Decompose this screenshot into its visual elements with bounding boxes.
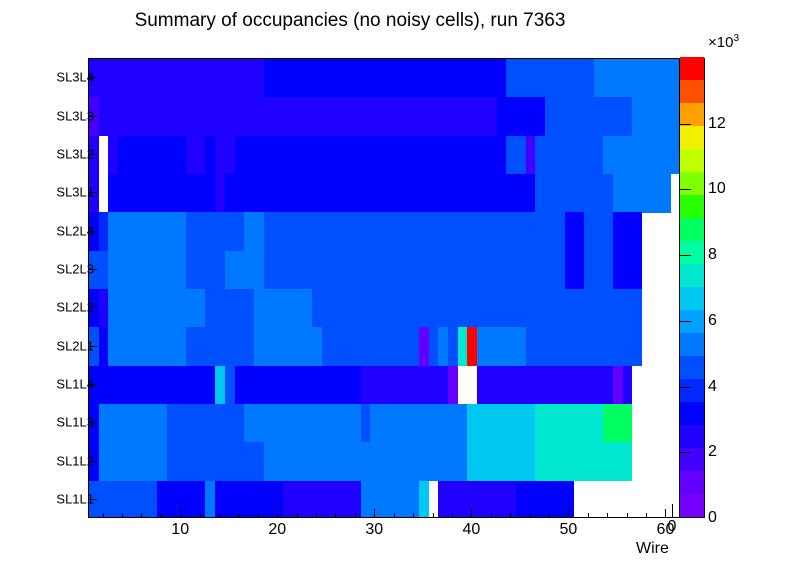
x-axis-minor-tick bbox=[355, 513, 356, 518]
colorbar-tick-label: 4 bbox=[708, 378, 717, 396]
heatmap-cell bbox=[235, 366, 361, 405]
x-axis-minor-tick bbox=[413, 513, 414, 518]
heatmap-cell bbox=[89, 366, 215, 405]
colorbar-tick bbox=[679, 321, 691, 322]
heatmap-cell bbox=[535, 442, 632, 481]
x-axis-minor-tick bbox=[297, 513, 298, 518]
colorbar-band bbox=[680, 379, 704, 402]
x-axis-minor-tick bbox=[103, 513, 104, 518]
heatmap-cell bbox=[118, 136, 186, 175]
heatmap-cell bbox=[254, 327, 322, 366]
heatmap-cell bbox=[264, 212, 565, 251]
x-axis-minor-tick bbox=[394, 513, 395, 518]
heatmap-cell bbox=[89, 481, 157, 517]
heatmap-cell bbox=[89, 97, 99, 136]
heatmap-cell bbox=[467, 327, 477, 366]
heatmap-cell bbox=[205, 481, 215, 517]
heatmap-cell bbox=[89, 136, 99, 175]
heatmap-cell bbox=[506, 136, 525, 175]
heatmap-cell bbox=[89, 442, 99, 481]
x-axis-tick-label: 50 bbox=[559, 521, 577, 539]
heatmap-cell bbox=[225, 251, 264, 290]
heatmap-cell bbox=[89, 174, 99, 213]
x-axis-minor-tick bbox=[238, 513, 239, 518]
colorbar-band bbox=[680, 218, 704, 241]
heatmap-cell bbox=[438, 327, 448, 366]
heatmap-cell bbox=[322, 327, 419, 366]
heatmap-cell bbox=[215, 136, 234, 175]
colorbar-band bbox=[680, 57, 704, 80]
colorbar bbox=[679, 58, 705, 518]
x-axis-minor-tick bbox=[549, 513, 550, 518]
x-axis-minor-tick bbox=[200, 513, 201, 518]
colorbar-band bbox=[680, 103, 704, 126]
root-canvas: Summary of occupancies (no noisy cells),… bbox=[0, 0, 796, 572]
heatmap-cell bbox=[264, 59, 507, 98]
colorbar-tick-label: 2 bbox=[708, 443, 717, 461]
x-axis-minor-tick bbox=[219, 513, 220, 518]
colorbar-tick bbox=[679, 452, 691, 453]
x-axis-minor-tick bbox=[141, 513, 142, 518]
colorbar-tick bbox=[679, 387, 691, 388]
heatmap-cell bbox=[254, 289, 312, 328]
heatmap-cell bbox=[283, 481, 361, 517]
heatmap-cell bbox=[215, 481, 283, 517]
heatmap-cell bbox=[419, 327, 429, 366]
colorbar-multiplier-base: ×10 bbox=[708, 34, 733, 51]
heatmap-cell bbox=[225, 174, 536, 213]
x-axis-major-tick bbox=[180, 509, 181, 518]
colorbar-axis-stub bbox=[672, 504, 673, 518]
heatmap-cell bbox=[516, 481, 574, 517]
heatmap-cell bbox=[361, 366, 448, 405]
x-axis-minor-tick bbox=[491, 513, 492, 518]
colorbar-tick-label: 6 bbox=[708, 312, 717, 330]
heatmap-cell bbox=[99, 289, 109, 328]
x-axis-minor-tick bbox=[530, 513, 531, 518]
heatmap-cell bbox=[99, 212, 109, 251]
heatmap-cell bbox=[419, 481, 429, 517]
colorbar-tick-label: 0 bbox=[708, 509, 717, 527]
colorbar-band bbox=[680, 264, 704, 287]
heatmap-cell bbox=[584, 212, 613, 251]
x-axis-minor-tick bbox=[433, 513, 434, 518]
heatmap-cell bbox=[89, 404, 99, 443]
heatmap-cell bbox=[565, 251, 584, 290]
heatmap-cell bbox=[108, 59, 263, 98]
heatmap-cell bbox=[108, 289, 205, 328]
colorbar-tick-label: 8 bbox=[708, 246, 717, 264]
x-axis-minor-tick bbox=[452, 513, 453, 518]
heatmap-cell bbox=[89, 59, 99, 98]
heatmap-cell bbox=[361, 404, 371, 443]
x-axis-minor-tick bbox=[607, 513, 608, 518]
x-axis-major-tick bbox=[568, 509, 569, 518]
x-axis-major-tick bbox=[471, 509, 472, 518]
heatmap-cell bbox=[108, 327, 186, 366]
heatmap-cell bbox=[99, 442, 167, 481]
page-title: Summary of occupancies (no noisy cells),… bbox=[0, 10, 700, 32]
heatmap-cell bbox=[167, 404, 245, 443]
colorbar-multiplier: ×103 bbox=[708, 33, 739, 51]
heatmap-cell bbox=[603, 404, 632, 443]
heatmap-cell bbox=[186, 251, 225, 290]
x-axis-minor-tick bbox=[316, 513, 317, 518]
heatmap-cell bbox=[458, 327, 468, 366]
heatmap-cell bbox=[244, 404, 360, 443]
heatmap-cell bbox=[312, 289, 642, 328]
colorbar-tick bbox=[679, 255, 691, 256]
heatmap-cell bbox=[497, 97, 546, 136]
heatmap-cell bbox=[613, 251, 642, 290]
heatmap-cell bbox=[448, 366, 458, 405]
heatmap-cell bbox=[448, 327, 458, 366]
heatmap-cell bbox=[477, 366, 613, 405]
heatmap-cell bbox=[361, 481, 419, 517]
heatmap-cell bbox=[467, 442, 535, 481]
heatmap-cell bbox=[99, 327, 109, 366]
heatmap-cell bbox=[215, 174, 225, 213]
colorbar-zero-label: 0 bbox=[668, 518, 677, 536]
heatmap-cell bbox=[225, 366, 235, 405]
colorbar-band bbox=[680, 172, 704, 195]
x-axis-tick-label: 30 bbox=[365, 521, 383, 539]
heatmap-cells bbox=[89, 59, 679, 517]
x-axis-minor-tick bbox=[510, 513, 511, 518]
heatmap-cell bbox=[215, 366, 225, 405]
heatmap-cell bbox=[186, 136, 205, 175]
heatmap-cell bbox=[89, 251, 108, 290]
heatmap-cell bbox=[205, 136, 215, 175]
x-axis-minor-tick bbox=[627, 513, 628, 518]
x-axis-minor-tick bbox=[161, 513, 162, 518]
x-axis-major-tick bbox=[277, 509, 278, 518]
colorbar-band bbox=[680, 448, 704, 471]
heatmap-cell bbox=[526, 327, 642, 366]
colorbar-multiplier-exponent: 3 bbox=[733, 33, 739, 44]
heatmap-cell bbox=[205, 289, 254, 328]
heatmap-cell bbox=[167, 442, 264, 481]
colorbar-band bbox=[680, 356, 704, 379]
heatmap-cell bbox=[370, 404, 467, 443]
heatmap-cell bbox=[613, 366, 623, 405]
heatmap-cell bbox=[535, 136, 603, 175]
x-axis-minor-tick bbox=[122, 513, 123, 518]
colorbar-band bbox=[680, 402, 704, 425]
heatmap-cell bbox=[108, 174, 215, 213]
heatmap-cell bbox=[186, 212, 244, 251]
heatmap-cell bbox=[584, 251, 613, 290]
colorbar-band bbox=[680, 494, 704, 517]
heatmap-cell bbox=[535, 174, 613, 213]
x-axis-tick-label: 40 bbox=[462, 521, 480, 539]
x-axis-major-tick bbox=[374, 509, 375, 518]
x-axis-minor-tick bbox=[258, 513, 259, 518]
colorbar-tick bbox=[679, 124, 691, 125]
heatmap-cell bbox=[477, 327, 526, 366]
plot-frame bbox=[88, 58, 680, 518]
heatmap-cell bbox=[467, 404, 535, 443]
x-axis-minor-tick bbox=[646, 513, 647, 518]
heatmap-cell bbox=[264, 442, 468, 481]
colorbar-band bbox=[680, 241, 704, 264]
heatmap-cell bbox=[108, 212, 186, 251]
colorbar-tick-label: 12 bbox=[708, 115, 726, 133]
heatmap-cell bbox=[603, 136, 679, 175]
heatmap-cell bbox=[613, 174, 671, 213]
x-axis-tick-label: 20 bbox=[268, 521, 286, 539]
colorbar-tick bbox=[679, 517, 691, 518]
heatmap-cell bbox=[506, 59, 593, 98]
colorbar-band bbox=[680, 333, 704, 356]
heatmap-cell bbox=[186, 327, 254, 366]
x-axis-major-tick bbox=[665, 509, 666, 518]
heatmap-cell bbox=[264, 251, 565, 290]
colorbar-band bbox=[680, 126, 704, 149]
heatmap-cell bbox=[89, 212, 99, 251]
heatmap-cell bbox=[108, 136, 118, 175]
heatmap-cell bbox=[99, 59, 109, 98]
x-axis-title: Wire bbox=[636, 540, 669, 558]
heatmap-cell bbox=[89, 289, 99, 328]
heatmap-cell bbox=[99, 404, 167, 443]
heatmap-cell bbox=[623, 366, 633, 405]
colorbar-band bbox=[680, 287, 704, 310]
x-axis-minor-tick bbox=[588, 513, 589, 518]
heatmap-cell bbox=[545, 97, 632, 136]
colorbar-band bbox=[680, 425, 704, 448]
colorbar-band bbox=[680, 195, 704, 218]
colorbar-tick bbox=[679, 189, 691, 190]
x-axis-tick-label: 10 bbox=[171, 521, 189, 539]
heatmap-cell bbox=[535, 404, 603, 443]
heatmap-cell bbox=[99, 97, 497, 136]
colorbar-band bbox=[680, 80, 704, 103]
heatmap-cell bbox=[429, 327, 439, 366]
heatmap-cell bbox=[438, 481, 516, 517]
heatmap-cell bbox=[565, 212, 584, 251]
heatmap-cell bbox=[613, 212, 642, 251]
heatmap-cell bbox=[526, 136, 536, 175]
x-axis-minor-tick bbox=[335, 513, 336, 518]
heatmap-cell bbox=[632, 97, 679, 136]
colorbar-band bbox=[680, 149, 704, 172]
heatmap-cell bbox=[244, 212, 263, 251]
heatmap-cell bbox=[108, 251, 186, 290]
heatmap-cell bbox=[594, 59, 679, 98]
heatmap-cell bbox=[89, 327, 99, 366]
heatmap-cell bbox=[235, 136, 507, 175]
colorbar-band bbox=[680, 471, 704, 494]
colorbar-tick-label: 10 bbox=[708, 180, 726, 198]
